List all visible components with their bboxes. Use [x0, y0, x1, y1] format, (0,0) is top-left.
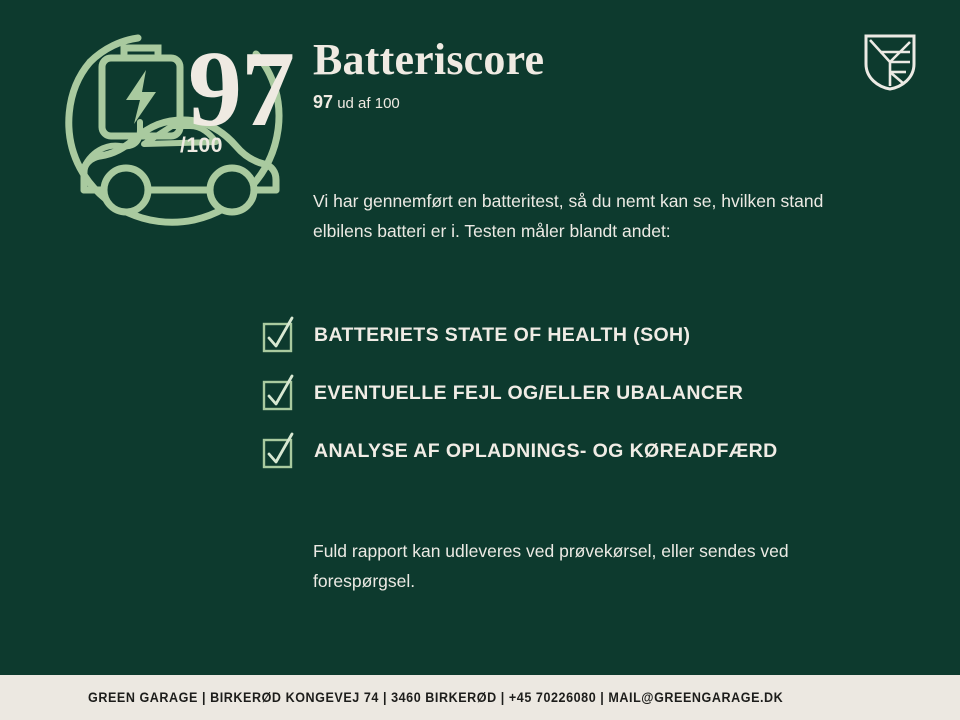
checked-checkbox-icon: [261, 373, 295, 413]
checklist-item: EVENTUELLE FEJL OG/ELLER UBALANCER: [261, 364, 881, 422]
checked-checkbox-icon: [261, 431, 295, 471]
intro-paragraph: Vi har gennemført en batteritest, så du …: [313, 186, 833, 246]
footer-contact-bar: GREEN GARAGE | BIRKERØD KONGEVEJ 74 | 34…: [0, 675, 960, 720]
subtitle-score-value: 97: [313, 92, 333, 112]
checklist-item-label: ANALYSE AF OPLADNINGS- OG KØREADFÆRD: [314, 440, 778, 463]
badge-score-denominator: /100: [180, 134, 223, 158]
feature-checklist: BATTERIETS STATE OF HEALTH (SOH) EVENTUE…: [261, 306, 881, 480]
score-subtitle: 97 ud af 100: [313, 92, 544, 113]
checklist-item: ANALYSE AF OPLADNINGS- OG KØREADFÆRD: [261, 422, 881, 480]
cable-curve: [82, 122, 140, 172]
footer-contact-line: GREEN GARAGE | BIRKERØD KONGEVEJ 74 | 34…: [88, 690, 783, 705]
badge-score-value: 97: [188, 36, 294, 144]
subtitle-score-suffix: ud af 100: [337, 95, 400, 112]
checklist-item-label: BATTERIETS STATE OF HEALTH (SOH): [314, 324, 690, 347]
header: Batteriscore 97 ud af 100: [313, 38, 544, 113]
shield-logo-icon: [862, 32, 918, 92]
checklist-item-label: EVENTUELLE FEJL OG/ELLER UBALANCER: [314, 382, 743, 405]
green-garage-shield-logo: [862, 32, 918, 92]
battery-score-badge: 97 /100: [60, 22, 290, 240]
outro-paragraph: Fuld rapport kan udleveres ved prøvekørs…: [313, 536, 833, 596]
page-title: Batteriscore: [313, 38, 544, 83]
checked-checkbox-icon: [261, 315, 295, 355]
checklist-item: BATTERIETS STATE OF HEALTH (SOH): [261, 306, 881, 364]
batteriscore-card: 97 /100 Batteriscore 97 ud af 100 Vi har…: [0, 0, 960, 720]
